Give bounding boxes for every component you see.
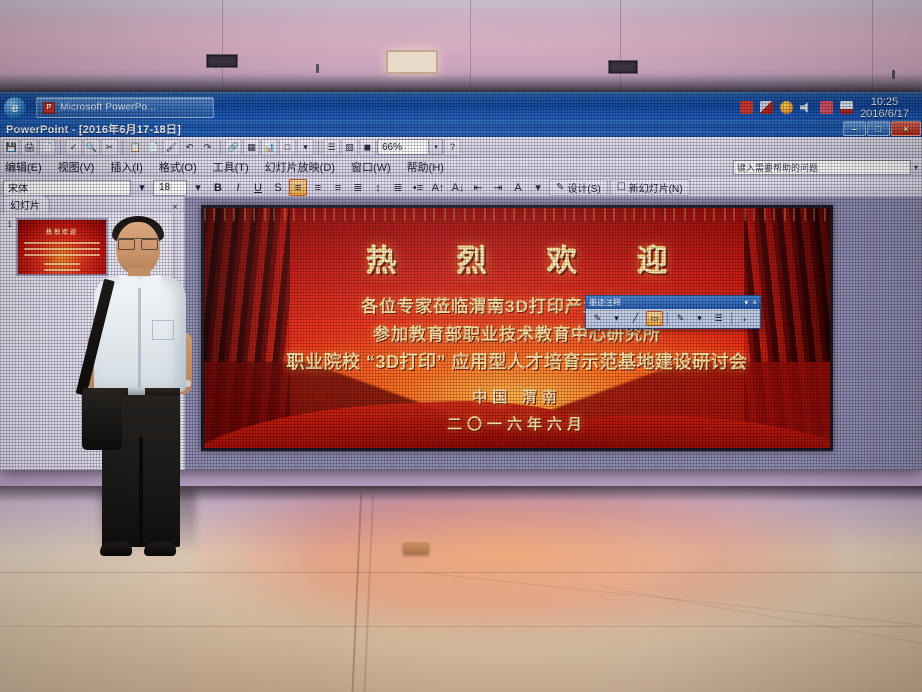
windows-taskbar[interactable]: e P Microsoft PowerPo... 10:25 2016/6/17 [0,92,922,123]
ink-color-dropdown-icon[interactable]: ▾ [691,311,708,326]
pen-dropdown-icon[interactable]: ▾ [608,311,625,326]
font-size-input[interactable]: 18 [153,180,187,196]
font-color-button[interactable]: A [509,179,527,196]
clock-time: 10:25 [860,96,909,108]
formatting-toolbar[interactable]: 宋体 ▾ 18 ▾ B I U S ≡ ≡ ≡ ≣ ↕ ≣ •≡ A↑ A↓ ⇤… [0,177,922,199]
toolbar-separator [318,140,319,155]
line-style-icon[interactable]: ☰ [710,311,727,326]
close-icon[interactable]: × [752,298,757,307]
menu-item-edit[interactable]: 编辑(E) [3,158,49,176]
clock-date: 2016/6/17 [860,108,909,120]
menu-item-window[interactable]: 窗口(W) [344,158,398,176]
person-collar-right [138,275,162,300]
menu-item-format[interactable]: 格式(O) [152,158,204,176]
person-shirt-placket [138,288,141,388]
toolbar-separator [122,140,123,155]
italic-button[interactable]: I [229,179,247,196]
window-controls[interactable]: – □ × [843,121,922,136]
notes-placeholder[interactable]: 单击此处添加备注 [201,459,833,470]
new-slide-icon[interactable]: □ [279,139,296,156]
person-left-shoe [100,542,132,556]
slide-design-label: 设计(S) [567,180,600,195]
color-grayscale-icon[interactable]: ◼ [359,139,376,156]
align-center-button[interactable]: ≡ [309,179,327,196]
insert-hyperlink-icon[interactable]: 🔗 [225,139,242,156]
ink-color-icon[interactable]: ✎ [672,311,689,326]
print-icon[interactable]: 🖨 [21,139,38,156]
new-slide-icon: ☐ [617,182,626,193]
show-grid-icon[interactable]: ▨ [341,139,358,156]
shield-alert-icon[interactable] [780,101,793,114]
eraser-icon[interactable]: ▭ [646,311,663,326]
powerpoint-icon: P [43,102,55,114]
print-preview-icon[interactable]: 📄 [39,139,56,156]
ceiling-light [386,50,438,74]
ink-toolbar-separator [667,312,668,325]
new-slide-label: 新幻灯片(N) [629,180,683,195]
person-shirt-pocket [152,320,174,340]
pane-tab-strip[interactable]: 幻灯片 × [0,197,184,213]
person-right-shoe [144,542,176,556]
window-titlebar[interactable]: PowerPoint - [2016年6月17-18日] – □ × [0,120,922,137]
red-badge-icon[interactable] [740,101,753,114]
tab-slides[interactable]: 幻灯片 [3,195,50,213]
close-button[interactable]: × [891,121,921,136]
show-formatting-icon[interactable]: ☰ [323,139,340,156]
ink-toolbar-separator [731,312,732,325]
slide-footer-location[interactable]: 中国 渭南 [204,386,830,407]
menu-item-insert[interactable]: 插入(I) [103,158,149,176]
zoom-input[interactable]: 66% [377,139,429,155]
design-icon: ✎ [556,182,564,193]
new-slide-button[interactable]: ☐ 新幻灯片(N) [610,179,690,196]
text-shadow-button[interactable]: S [269,179,287,196]
person-standing [76,212,204,564]
justify-button[interactable]: ≣ [349,179,367,196]
menu-item-view[interactable]: 视图(V) [51,158,102,176]
increase-indent-button[interactable]: ⇥ [489,179,507,196]
menu-bar[interactable]: 编辑(E) 视图(V) 插入(I) 格式(O) 工具(T) 幻灯片放映(D) 窗… [0,158,922,177]
internet-explorer-icon[interactable]: e [4,97,26,119]
align-right-button[interactable]: ≡ [329,179,347,196]
undo-icon[interactable]: ↶ [181,139,198,156]
speaker-icon[interactable] [800,101,813,114]
decrease-indent-button[interactable]: ⇤ [469,179,487,196]
sprinkler-head [316,64,319,73]
slide-design-button[interactable]: ✎ 设计(S) [549,179,608,196]
decrease-font-size-button[interactable]: A↓ [449,179,467,196]
highlighter-icon[interactable]: ╱ [627,311,644,326]
underline-button[interactable]: U [249,179,267,196]
paste-icon[interactable]: 📄 [145,139,162,156]
line-spacing-icon[interactable]: ↕ [369,179,387,196]
network-icon[interactable] [760,101,773,114]
font-color-dropdown-icon[interactable]: ▾ [529,179,547,196]
monitor-icon[interactable] [840,101,853,114]
bullets-button[interactable]: •≡ [409,179,427,196]
thumbnail-text-line [44,263,80,265]
increase-font-size-button[interactable]: A↑ [429,179,447,196]
pink-app-icon[interactable] [820,101,833,114]
standard-toolbar[interactable]: 💾 🖨 📄 ✓ 🔍 ✂ 📋 📄 🖌 ↶ ↷ 🔗 ▦ 📊 □ ▾ [0,137,922,158]
copy-icon[interactable]: 📋 [127,139,144,156]
redo-icon[interactable]: ↷ [199,139,216,156]
slide-title[interactable]: 热 烈 欢 迎 [204,236,830,280]
ceiling-vent [206,54,238,68]
chevron-down-icon[interactable]: ▾ [914,163,918,172]
person-trouser-split [139,437,143,547]
pen-icon[interactable]: ✎ [589,311,606,326]
research-icon[interactable]: 🔍 [83,139,100,156]
slide-footer-date[interactable]: 二〇一六年六月 [204,413,830,434]
taskbar-clock[interactable]: 10:25 2016/6/17 [860,96,915,120]
ink-toolbar-titlebar[interactable]: 墨迹注释 ▾ × [586,296,760,309]
bold-button[interactable]: B [209,179,227,196]
window-title: PowerPoint - [2016年6月17-18日] [6,121,181,137]
system-tray[interactable]: 10:25 2016/6/17 [740,96,922,120]
numbering-button[interactable]: ≣ [389,179,407,196]
ink-annotation-toolbar[interactable]: 墨迹注释 ▾ × ✎ ▾ ╱ ▭ ✎ [585,295,761,329]
toolbar-separator [60,140,61,155]
taskbar-button-label: Microsoft PowerPo... [60,102,156,113]
format-painter-icon[interactable]: 🖌 [163,139,180,156]
menu-item-slideshow[interactable]: 幻灯片放映(D) [258,158,342,176]
menu-item-tools[interactable]: 工具(T) [206,158,256,176]
lobby-ceiling [0,0,922,96]
ink-toolbar-controls[interactable]: ▾ × [744,298,757,307]
menu-item-help[interactable]: 帮助(H) [400,158,451,176]
font-name-input[interactable]: 宋体 [3,180,131,196]
slide-thumbnail-number: 1 [4,218,12,229]
ask-a-question-input[interactable]: 键入需要帮助的问题 [733,160,911,175]
decorative-border-pattern [204,208,830,221]
ceiling-vent [608,60,638,74]
insert-table-icon[interactable]: ▦ [243,139,260,156]
spelling-icon[interactable]: ✓ [65,139,82,156]
taskbar-button-powerpoint[interactable]: P Microsoft PowerPo... [36,97,214,118]
shoulder-bag [82,388,122,450]
align-left-button[interactable]: ≡ [289,179,307,196]
expand-all-icon[interactable]: ▾ [297,139,314,156]
zoom-dropdown-arrow[interactable]: ▾ [430,139,443,155]
ink-toolbar-title: 墨迹注释 [589,297,621,308]
font-size-dropdown-icon[interactable]: ▾ [189,179,207,196]
toolbar-separator [220,140,221,155]
save-icon[interactable]: 💾 [3,139,20,156]
help-icon[interactable]: ? [444,139,461,156]
chevron-down-icon[interactable]: ▾ [744,298,748,307]
minimize-button[interactable]: – [843,121,866,136]
maximize-button[interactable]: □ [867,121,890,136]
more-icon[interactable]: › [736,311,753,326]
photo-scene: e P Microsoft PowerPo... 10:25 2016/6/17 [0,0,922,692]
cut-icon[interactable]: ✂ [101,139,118,156]
slide-edit-pane[interactable]: 热 烈 欢 迎 各位专家莅临渭南3D打印产业培育基地 参加教育部职业技术教育中心… [185,197,922,470]
insert-chart-icon[interactable]: 📊 [261,139,278,156]
ink-toolbar-buttons[interactable]: ✎ ▾ ╱ ▭ ✎ ▾ ☰ › [586,309,760,328]
thumbnail-text-line [44,269,80,271]
slide-subtitle-line-3[interactable]: 职业院校 “3D打印” 应用型人才培育示范基地建设研讨会 [204,348,830,374]
font-name-dropdown-icon[interactable]: ▾ [133,179,151,196]
person-glasses [118,238,158,247]
ask-a-question-area[interactable]: 键入需要帮助的问题 ▾ [733,160,922,175]
